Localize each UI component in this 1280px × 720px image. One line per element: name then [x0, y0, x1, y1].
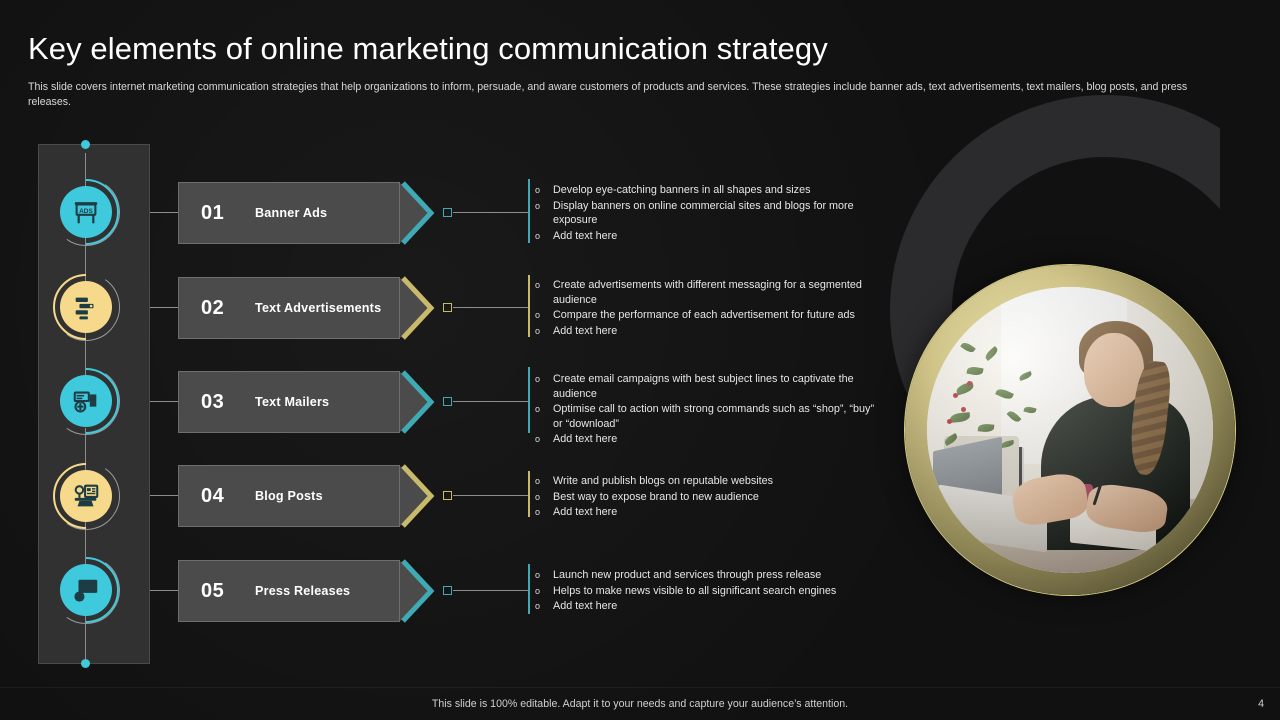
bullet-list-02: Create advertisements with different mes…: [533, 278, 893, 339]
bullet-list-03: Create email campaigns with best subject…: [533, 372, 878, 448]
step-chip-01[interactable]: 01Banner Ads: [178, 182, 400, 244]
step-chevron-accent: [401, 464, 437, 528]
footer-note: This slide is 100% editable. Adapt it to…: [0, 698, 1280, 710]
timeline-node-02[interactable]: [60, 281, 112, 333]
marker-to-bullets-line: [453, 212, 528, 213]
bullet-item: Add text here: [533, 324, 893, 339]
step-number: 01: [201, 202, 231, 225]
bullet-item: Add text here: [533, 432, 878, 447]
step-chip-02[interactable]: 02Text Advertisements: [178, 277, 400, 339]
bullet-item: Add text here: [533, 505, 863, 520]
timeline-node-05[interactable]: [60, 564, 112, 616]
step-marker-square-03[interactable]: [443, 397, 452, 406]
bullet-accent-rail-02: [528, 275, 530, 337]
bullet-list-04: Write and publish blogs on reputable web…: [533, 474, 863, 521]
step-chevron-accent: [401, 276, 437, 340]
step-number: 02: [201, 297, 231, 320]
rail-to-chip-connector: [150, 212, 178, 213]
step-marker-square-05[interactable]: [443, 586, 452, 595]
page-subtitle: This slide covers internet marketing com…: [28, 80, 1233, 110]
step-chevron-accent: [401, 559, 437, 623]
step-number: 05: [201, 580, 231, 603]
bullet-item: Compare the performance of each advertis…: [533, 308, 893, 323]
bullet-list-05: Launch new product and services through …: [533, 568, 883, 615]
bullet-item: Create email campaigns with best subject…: [533, 372, 878, 401]
bullet-item: Add text here: [533, 229, 873, 244]
background-ring-mask: [1220, 60, 1280, 580]
bullet-accent-rail-04: [528, 471, 530, 517]
press-release-icon: [60, 564, 112, 616]
text-advertisement-icon: [60, 281, 112, 333]
slide-root: Key elements of online marketing communi…: [0, 0, 1280, 720]
bullet-item: Best way to expose brand to new audience: [533, 490, 863, 505]
bullet-accent-rail-01: [528, 179, 530, 243]
step-label: Banner Ads: [255, 206, 327, 220]
marker-to-bullets-line: [453, 495, 528, 496]
rail-line-segment-1: [85, 153, 86, 186]
bullet-item: Display banners on online commercial sit…: [533, 199, 873, 228]
bullet-item: Write and publish blogs on reputable web…: [533, 474, 863, 489]
step-chip-04[interactable]: 04Blog Posts: [178, 465, 400, 527]
rail-to-chip-connector: [150, 401, 178, 402]
rail-to-chip-connector: [150, 590, 178, 591]
step-label: Text Mailers: [255, 395, 329, 409]
bullet-item: Create advertisements with different mes…: [533, 278, 893, 307]
text-mailer-icon: [60, 375, 112, 427]
step-marker-square-02[interactable]: [443, 303, 452, 312]
page-number: 4: [1258, 698, 1264, 710]
step-chevron-accent: [401, 370, 437, 434]
banner-ads-icon: ADS: [60, 186, 112, 238]
step-chip-05[interactable]: 05Press Releases: [178, 560, 400, 622]
photo-shading-overlay: [927, 287, 1213, 573]
page-title: Key elements of online marketing communi…: [28, 30, 828, 68]
bullet-item: Helps to make news visible to all signif…: [533, 584, 883, 599]
footer-separator: [0, 687, 1280, 688]
marker-to-bullets-line: [453, 590, 528, 591]
step-marker-square-01[interactable]: [443, 208, 452, 217]
step-label: Press Releases: [255, 584, 350, 598]
bullet-item: Launch new product and services through …: [533, 568, 883, 583]
bullet-item: Add text here: [533, 599, 883, 614]
marker-to-bullets-line: [453, 307, 528, 308]
timeline-node-01[interactable]: ADS: [60, 186, 112, 238]
step-number: 03: [201, 391, 231, 414]
bullet-item: Develop eye-catching banners in all shap…: [533, 183, 873, 198]
timeline-node-03[interactable]: [60, 375, 112, 427]
rail-bottom-dot: [81, 659, 90, 668]
step-label: Text Advertisements: [255, 301, 381, 315]
step-label: Blog Posts: [255, 489, 323, 503]
rail-top-dot: [81, 140, 90, 149]
rail-to-chip-connector: [150, 307, 178, 308]
bullet-item: Optimise call to action with strong comm…: [533, 402, 878, 431]
rail-to-chip-connector: [150, 495, 178, 496]
bullet-accent-rail-05: [528, 564, 530, 614]
bullet-accent-rail-03: [528, 367, 530, 433]
step-chevron-accent: [401, 181, 437, 245]
step-marker-square-04[interactable]: [443, 491, 452, 500]
bullet-list-01: Develop eye-catching banners in all shap…: [533, 183, 873, 244]
photo-ring-frame: [905, 265, 1235, 595]
svg-text:ADS: ADS: [79, 208, 93, 215]
step-chip-03[interactable]: 03Text Mailers: [178, 371, 400, 433]
person-working-on-laptop-photo: [927, 287, 1213, 573]
timeline-node-04[interactable]: [60, 470, 112, 522]
step-number: 04: [201, 485, 231, 508]
blog-post-icon: [60, 470, 112, 522]
marker-to-bullets-line: [453, 401, 528, 402]
